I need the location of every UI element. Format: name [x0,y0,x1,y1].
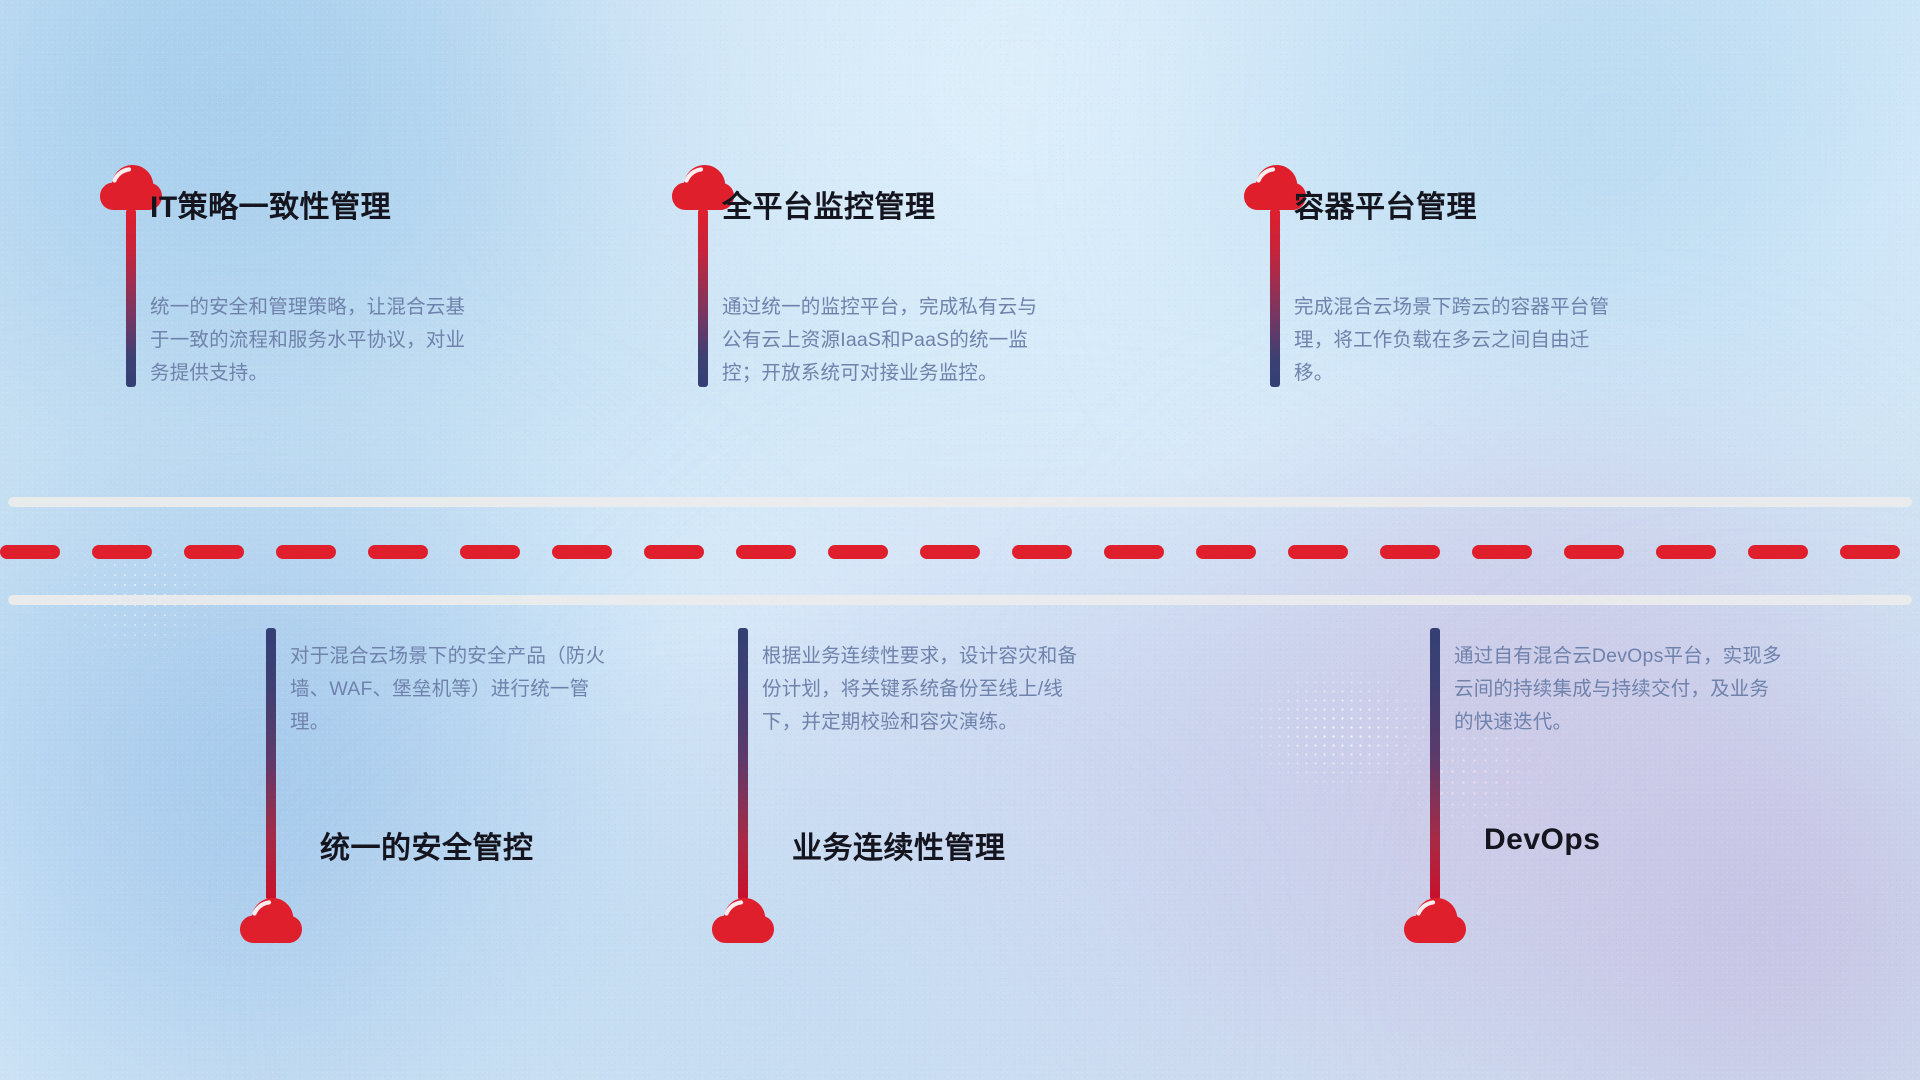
card-body: 根据业务连续性要求，设计容灾和备份计划，将关键系统备份至线上/线下，并定期校验和… [762,640,1092,739]
card-heading: 业务连续性管理 [792,823,1006,867]
road-dash-segment [1564,545,1624,559]
road-dash-segment [1840,545,1900,559]
road-dash-segment [0,545,60,559]
road-dash-segment [920,545,980,559]
road-dashed-center-line [0,545,1920,559]
road-edge-line-bottom [8,595,1912,605]
card-body: 通过自有混合云DevOps平台，实现多云间的持续集成与持续交付，及业务的快速迭代… [1454,640,1784,739]
card-heading: DevOps [1484,823,1600,857]
card-heading: 统一的安全管控 [320,823,534,867]
road-dash-segment [736,545,796,559]
road-dash-segment [184,545,244,559]
infographic-canvas: IT策略一致性管理 统一的安全和管理策略，让混合云基于一致的流程和服务水平协议，… [0,0,1920,1080]
road-dash-segment [1104,545,1164,559]
road-dash-segment [1472,545,1532,559]
cloud-icon [1404,898,1466,944]
road-dash-segment [828,545,888,559]
connector-stem [126,209,136,387]
cloud-icon [712,898,774,944]
card-body: 对于混合云场景下的安全产品（防火墙、WAF、堡垒机等）进行统一管理。 [290,640,620,739]
connector-stem [1430,628,1440,900]
cloud-icon [240,898,302,944]
road-dash-segment [460,545,520,559]
road-dash-segment [1288,545,1348,559]
road-edge-line-top [8,497,1912,507]
road-dash-segment [368,545,428,559]
road-dash-segment [1748,545,1808,559]
connector-stem [698,209,708,387]
connector-stem [266,628,276,900]
road-dash-segment [644,545,704,559]
road-dash-segment [276,545,336,559]
card-body: 完成混合云场景下跨云的容器平台管理，将工作负载在多云之间自由迁移。 [1294,291,1624,390]
connector-stem [738,628,748,900]
card-body: 统一的安全和管理策略，让混合云基于一致的流程和服务水平协议，对业务提供支持。 [150,291,480,390]
card-body: 通过统一的监控平台，完成私有云与公有云上资源IaaS和PaaS的统一监控；开放系… [722,291,1052,390]
road-dash-segment [1656,545,1716,559]
connector-stem [1270,209,1280,387]
card-heading: IT策略一致性管理 [150,182,391,226]
road-dash-segment [552,545,612,559]
road-dash-segment [1380,545,1440,559]
card-heading: 全平台监控管理 [722,182,936,226]
road-dash-segment [92,545,152,559]
road-dash-segment [1196,545,1256,559]
road-dash-segment [1012,545,1072,559]
card-heading: 容器平台管理 [1294,182,1477,226]
